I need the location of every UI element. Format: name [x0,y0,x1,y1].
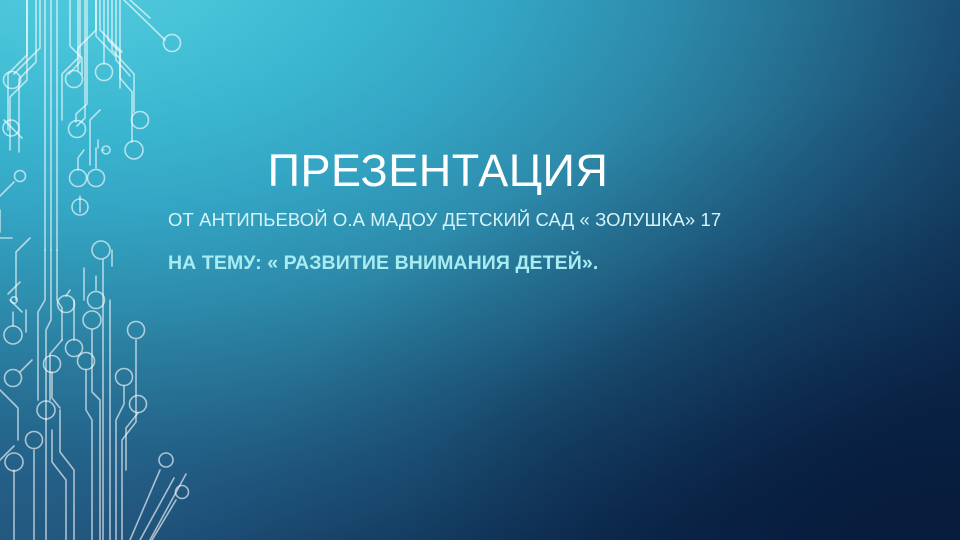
slide-text-block: ПРЕЗЕНТАЦИЯ ОТ АНТИПЬЕВОЙ О.А МАДОУ ДЕТС… [0,0,960,540]
subtitle-author-line: ОТ АНТИПЬЕВОЙ О.А МАДОУ ДЕТСКИЙ САД « ЗО… [168,209,721,231]
presentation-slide: ПРЕЗЕНТАЦИЯ ОТ АНТИПЬЕВОЙ О.А МАДОУ ДЕТС… [0,0,960,540]
page-title: ПРЕЗЕНТАЦИЯ [168,147,708,194]
subtitle-topic-line: НА ТЕМУ: « РАЗВИТИЕ ВНИМАНИЯ ДЕТЕЙ». [168,252,598,275]
